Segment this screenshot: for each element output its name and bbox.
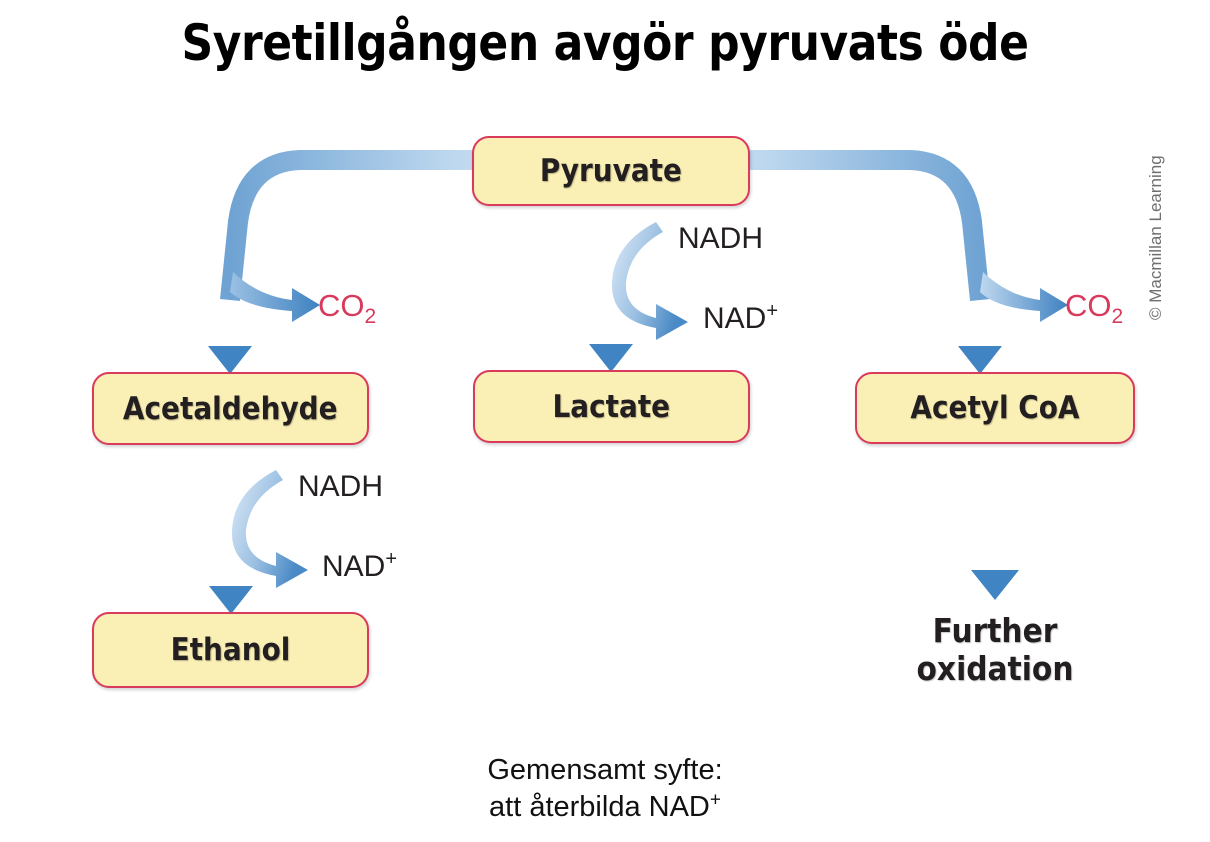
further-oxidation-line1: Further [869, 612, 1121, 650]
label-co2-right: CO2 [1065, 288, 1123, 324]
label-nad-plus-middle-text: NAD [703, 302, 766, 335]
node-acetaldehyde-label: Acetaldehyde [123, 391, 338, 427]
diagram-canvas: Syretillgången avgör pyruvats öde [0, 0, 1210, 842]
node-acetyl-coa[interactable]: Acetyl CoA [855, 372, 1135, 444]
arrow-co2-right [980, 272, 1068, 322]
label-nad-plus-left-superscript: + [385, 548, 397, 570]
caption: Gemensamt syfte: att återbilda NAD+ [0, 752, 1210, 826]
node-acetaldehyde[interactable]: Acetaldehyde [92, 372, 369, 445]
arrow-nadh-to-nad-middle [612, 222, 688, 340]
arrow-co2-left [230, 272, 320, 322]
node-lactate-label: Lactate [553, 389, 671, 425]
label-further-oxidation: Further oxidation [855, 612, 1135, 687]
caption-line2: att återbilda NAD+ [0, 789, 1210, 826]
label-co2-left-subscript: 2 [365, 305, 377, 328]
caption-line2-superscript: + [710, 789, 721, 810]
label-nadh-middle: NADH [678, 222, 763, 256]
label-co2-right-subscript: 2 [1112, 305, 1124, 328]
label-nad-plus-middle-superscript: + [766, 300, 778, 322]
label-co2-left: CO2 [318, 288, 376, 324]
arrow-nadh-to-nad-left [232, 470, 308, 588]
arrow-acetylcoa-to-further-oxidation [971, 444, 1019, 600]
node-lactate[interactable]: Lactate [473, 370, 750, 443]
node-acetyl-coa-label: Acetyl CoA [910, 390, 1079, 426]
caption-line2-text: att återbilda NAD [489, 791, 710, 823]
caption-line1: Gemensamt syfte: [0, 752, 1210, 789]
label-nad-plus-left-text: NAD [322, 550, 385, 583]
arrow-pyruvate-to-lactate [589, 206, 633, 372]
further-oxidation-line2: oxidation [869, 650, 1121, 688]
label-co2-left-text: CO [318, 288, 365, 323]
label-nad-plus-left: NAD+ [322, 550, 397, 584]
copyright-notice: © Macmillan Learning [1146, 155, 1166, 320]
node-pyruvate-label: Pyruvate [540, 153, 682, 189]
label-nadh-left: NADH [298, 470, 383, 504]
label-co2-right-text: CO [1065, 288, 1112, 323]
arrow-acetaldehyde-to-ethanol [209, 445, 253, 614]
node-pyruvate[interactable]: Pyruvate [472, 136, 750, 206]
node-ethanol[interactable]: Ethanol [92, 612, 369, 688]
node-ethanol-label: Ethanol [171, 632, 291, 668]
label-nad-plus-middle: NAD+ [703, 302, 778, 336]
